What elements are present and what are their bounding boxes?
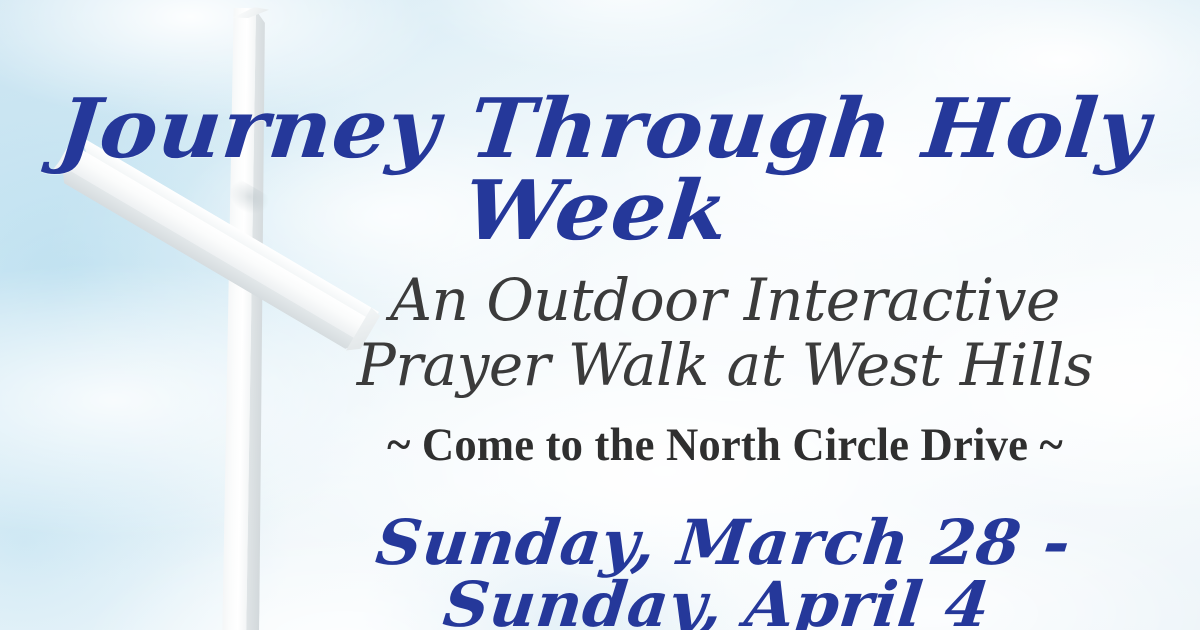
subtitle-block: An Outdoor Interactive Prayer Walk at We… [260,268,1190,398]
poster-text-content: Journey Through Holy Week An Outdoor Int… [0,0,1200,630]
page-title: Journey Through Holy Week [0,88,1200,252]
subtitle-line-2: Prayer Walk at West Hills [260,333,1190,398]
location-tagline: ~ Come to the North Circle Drive ~ [283,422,1167,469]
subtitle-line-1: An Outdoor Interactive [260,268,1190,333]
holy-week-event-poster: Journey Through Holy Week An Outdoor Int… [0,0,1200,630]
event-dateline: Sunday, March 28 - Sunday, April 4 [234,512,1200,630]
